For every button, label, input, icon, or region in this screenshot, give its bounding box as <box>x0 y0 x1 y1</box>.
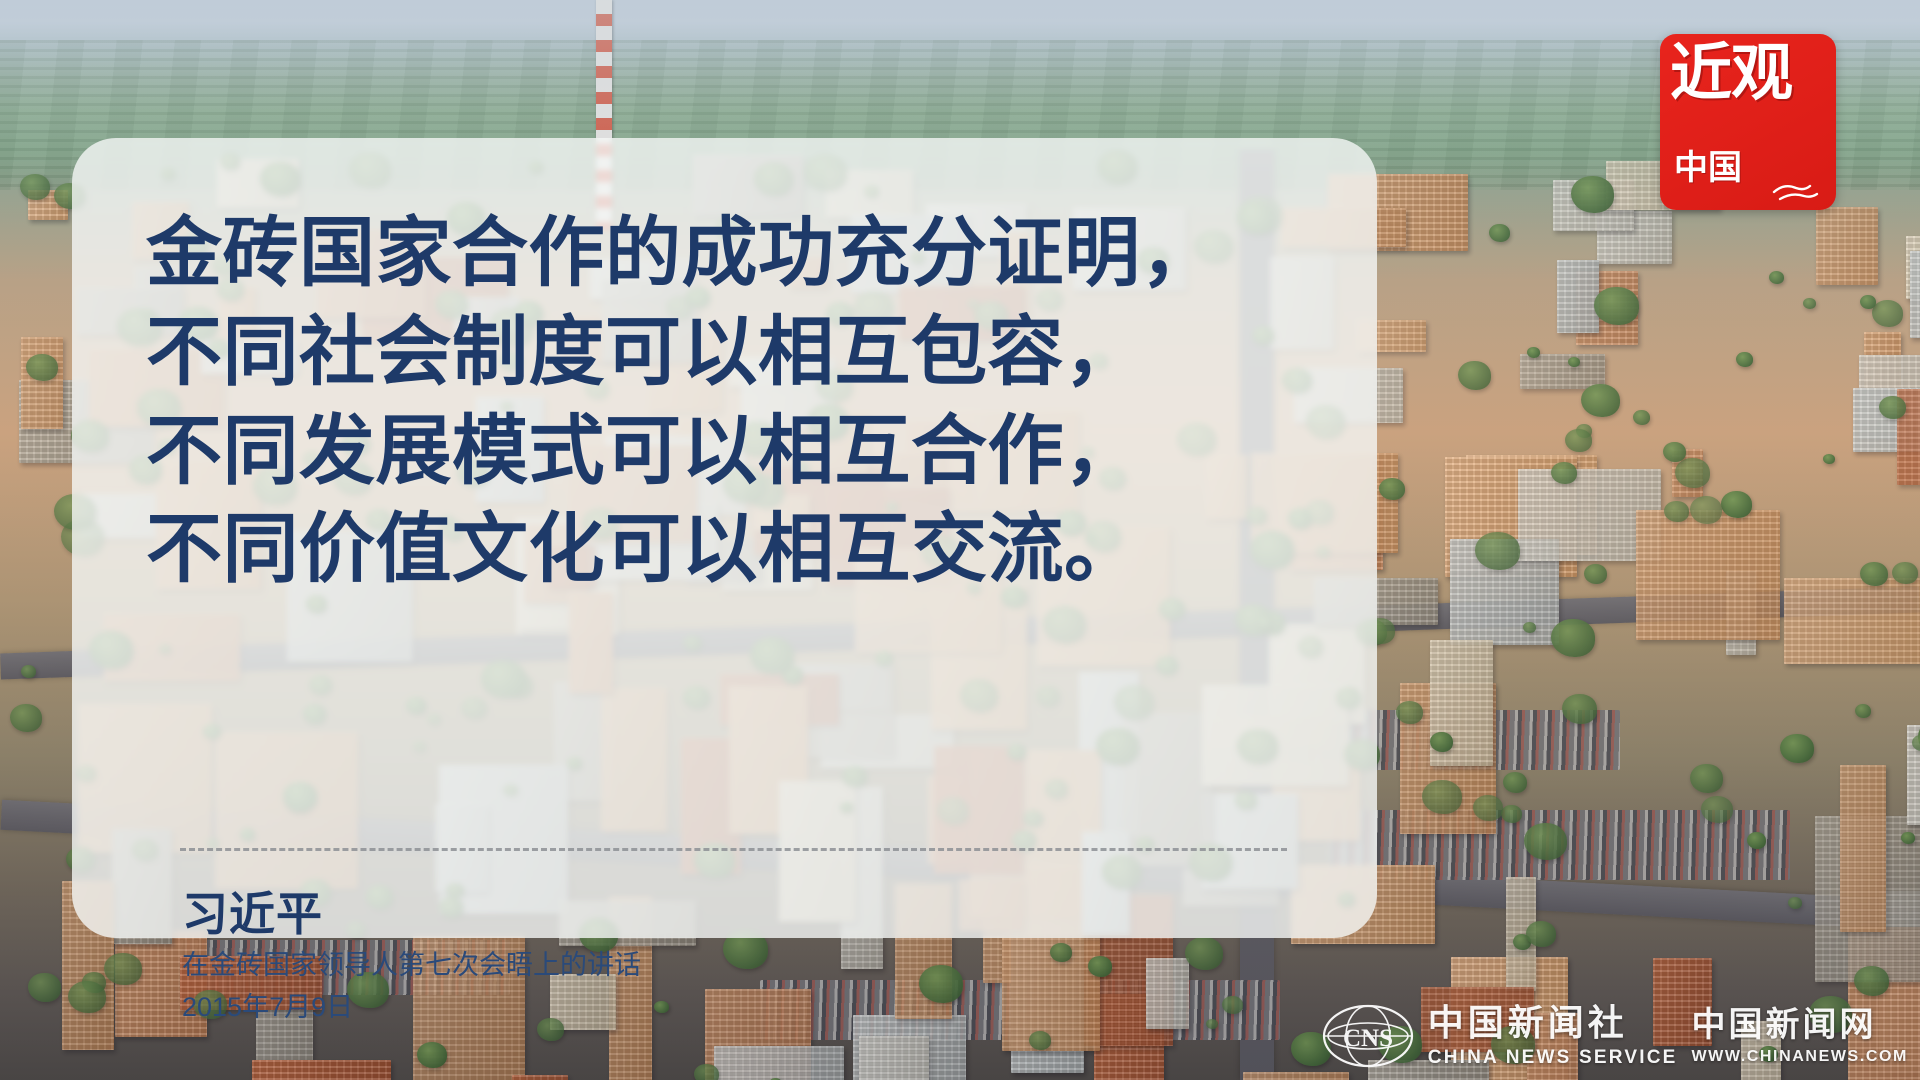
tree <box>1901 832 1915 844</box>
tree <box>1551 619 1595 657</box>
tree <box>1379 478 1405 500</box>
quote-panel: 金砖国家合作的成功充分证明， 不同社会制度可以相互包容， 不同发展模式可以相互合… <box>72 138 1377 938</box>
tree <box>1422 780 1462 814</box>
tree <box>1594 287 1639 325</box>
site-url-en: WWW.CHINANEWS.COM <box>1691 1049 1908 1065</box>
tree <box>654 1001 669 1013</box>
building <box>1243 1072 1349 1080</box>
tree <box>1396 701 1423 724</box>
tree <box>1523 622 1536 633</box>
tree <box>1803 298 1816 309</box>
tree <box>1222 996 1243 1014</box>
tree <box>20 174 50 200</box>
building <box>714 1046 844 1080</box>
svg-text:CNS: CNS <box>1343 1025 1393 1052</box>
tree <box>1854 966 1889 996</box>
tree <box>26 354 58 381</box>
tree <box>1690 764 1723 793</box>
quote-line-4: 不同价值文化可以相互交流。 <box>146 500 1303 599</box>
tree <box>1473 795 1503 821</box>
quote-panel-body: 金砖国家合作的成功充分证明， 不同社会制度可以相互包容， 不同发展模式可以相互合… <box>72 138 1377 938</box>
tree <box>1458 361 1491 390</box>
tree <box>1527 347 1540 358</box>
building <box>1636 510 1780 640</box>
tree <box>1860 562 1888 586</box>
tree <box>1185 937 1223 970</box>
quote-text: 金砖国家合作的成功充分证明， 不同社会制度可以相互包容， 不同发展模式可以相互合… <box>146 204 1303 599</box>
tree <box>1524 823 1567 860</box>
cloud-swirl-icon <box>1770 172 1826 202</box>
tree <box>1855 704 1871 718</box>
building <box>1520 354 1605 389</box>
tree <box>1489 224 1510 242</box>
tree <box>1675 458 1710 488</box>
tree <box>1788 897 1802 909</box>
cns-globe-icon: CNS <box>1322 1004 1414 1068</box>
site-name-cn: 中国新闻网 <box>1691 1008 1908 1042</box>
tree <box>417 1042 447 1068</box>
speaker-name: 习近平 <box>182 888 641 941</box>
tree <box>1571 176 1614 213</box>
tree <box>1206 1019 1218 1029</box>
quote-line-3: 不同发展模式可以相互合作， <box>146 402 1303 501</box>
tree <box>1584 564 1607 584</box>
tree <box>10 704 42 732</box>
building <box>1840 765 1886 932</box>
tree <box>1892 562 1918 584</box>
tree <box>1088 956 1112 977</box>
tree <box>21 665 36 678</box>
brand-logo-main-text: 近观 <box>1670 40 1830 105</box>
tree <box>1664 501 1689 522</box>
agency-name-block: 中国新闻社 CHINA NEWS SERVICE <box>1428 1005 1678 1067</box>
tree <box>1562 694 1597 724</box>
quote-line-2: 不同社会制度可以相互包容， <box>146 303 1303 402</box>
tree <box>1769 271 1784 284</box>
tree <box>1581 384 1620 417</box>
tree <box>694 1064 719 1080</box>
quote-line-1: 金砖国家合作的成功充分证明， <box>146 204 1303 303</box>
tree <box>919 965 963 1003</box>
agency-name-en: CHINA NEWS SERVICE <box>1428 1048 1678 1067</box>
tree <box>1551 462 1577 484</box>
building <box>252 1060 391 1080</box>
building <box>512 1075 568 1080</box>
tree <box>1663 442 1686 462</box>
building <box>1557 260 1599 333</box>
tree <box>1879 396 1906 419</box>
building <box>1910 251 1920 338</box>
tree <box>1029 1031 1051 1050</box>
tree <box>1736 352 1753 367</box>
dashed-divider <box>180 848 1287 851</box>
tree <box>104 953 142 985</box>
building <box>1784 578 1920 664</box>
building <box>1146 958 1189 1029</box>
tree <box>1565 429 1592 452</box>
tree <box>28 973 61 1002</box>
tree <box>1503 772 1527 793</box>
tree <box>1823 454 1835 464</box>
poster-canvas: 金砖国家合作的成功充分证明， 不同社会制度可以相互包容， 不同发展模式可以相互合… <box>0 0 1920 1080</box>
brand-logo[interactable]: 近观 中国 <box>1660 34 1836 210</box>
tree <box>1568 357 1580 367</box>
tree <box>1747 832 1766 849</box>
tree <box>1475 532 1520 570</box>
tree <box>68 981 106 1013</box>
attribution-block: 习近平 在金砖国家领导人第七次会晤上的讲话 2015年7月9日 <box>182 888 641 1026</box>
tree <box>1050 943 1072 962</box>
tree <box>1690 496 1722 524</box>
cns-watermark: CNS 中国新闻社 CHINA NEWS SERVICE 中国新闻网 WWW.C… <box>1322 1004 1908 1068</box>
brand-logo-sub-text: 中国 <box>1674 140 1742 189</box>
tree <box>1872 300 1903 327</box>
building <box>21 337 63 429</box>
agency-name-cn: 中国新闻社 <box>1428 1005 1678 1041</box>
tree <box>1860 295 1876 309</box>
building <box>1816 207 1878 285</box>
speech-occasion: 在金砖国家领导人第七次会晤上的讲话 <box>182 947 641 983</box>
speech-date: 2015年7月9日 <box>182 989 641 1025</box>
tree <box>1721 491 1752 518</box>
tree <box>1633 410 1650 425</box>
tree <box>1701 796 1733 823</box>
building <box>859 1036 929 1080</box>
tree <box>1501 805 1522 823</box>
tree <box>1526 921 1556 947</box>
tree <box>1780 734 1814 763</box>
tree <box>1430 732 1453 752</box>
site-name-block: 中国新闻网 WWW.CHINANEWS.COM <box>1691 1008 1908 1065</box>
